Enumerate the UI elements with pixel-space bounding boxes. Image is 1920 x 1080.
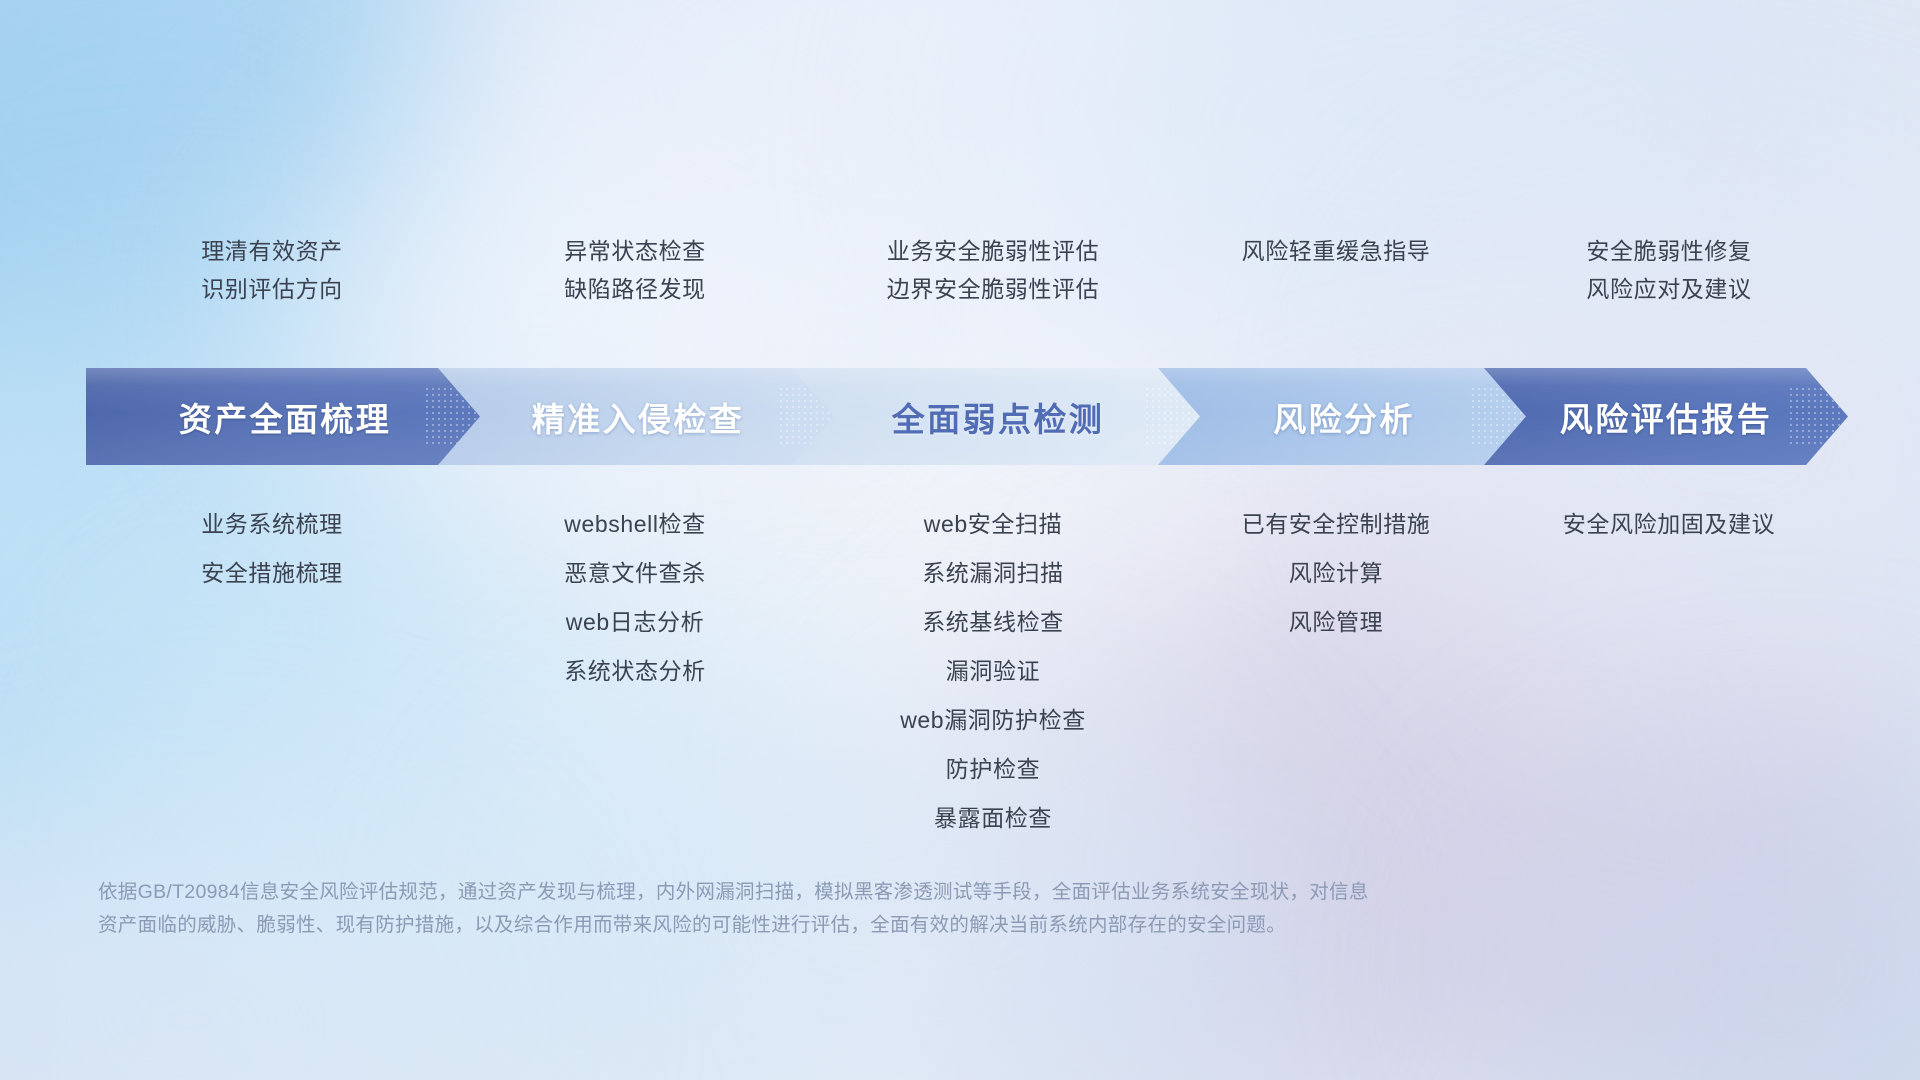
detail-column-4: 已有安全控制措施 风险计算 风险管理 <box>1174 500 1498 647</box>
top-caption-column-1: 理清有效资产 识别评估方向 <box>86 232 458 308</box>
top-caption-line: 异常状态检查 <box>458 232 812 270</box>
top-caption-column-3: 业务安全脆弱性评估 边界安全脆弱性评估 <box>812 232 1174 308</box>
top-caption-column-2: 异常状态检查 缺陷路径发现 <box>458 232 812 308</box>
list-item: 防护检查 <box>812 745 1174 794</box>
footer-line-1: 依据GB/T20984信息安全风险评估规范，通过资产发现与梳理，内外网漏洞扫描，… <box>98 876 1658 909</box>
top-caption-line: 边界安全脆弱性评估 <box>812 270 1174 308</box>
detail-column-3: web安全扫描 系统漏洞扫描 系统基线检查 漏洞验证 web漏洞防护检查 防护检… <box>812 500 1174 843</box>
chevron-step-2-label: 精准入侵检查 <box>532 393 744 441</box>
process-chevron-band: 资产全面梳理 精准入侵检查 全面弱点检测 风险分析 风险评估报告 <box>86 368 1848 465</box>
list-item: 暴露面检查 <box>812 794 1174 843</box>
chevron-step-3-label: 全面弱点检测 <box>892 393 1104 441</box>
chevron-step-4[interactable]: 风险分析 <box>1158 368 1530 465</box>
chevron-dot-texture <box>1788 386 1842 446</box>
top-caption-column-4: 风险轻重缓急指导 <box>1174 232 1498 308</box>
top-caption-line: 识别评估方向 <box>86 270 458 308</box>
detail-column-1: 业务系统梳理 安全措施梳理 <box>86 500 458 598</box>
list-item: 业务系统梳理 <box>86 500 458 549</box>
chevron-step-3[interactable]: 全面弱点检测 <box>792 368 1204 465</box>
top-caption-line: 缺陷路径发现 <box>458 270 812 308</box>
top-caption-line: 理清有效资产 <box>86 232 458 270</box>
list-item: 漏洞验证 <box>812 647 1174 696</box>
list-item: 风险计算 <box>1174 549 1498 598</box>
list-item: 安全措施梳理 <box>86 549 458 598</box>
top-caption-column-5: 安全脆弱性修复 风险应对及建议 <box>1498 232 1840 308</box>
list-item: 安全风险加固及建议 <box>1498 500 1840 549</box>
list-item: web日志分析 <box>458 598 812 647</box>
top-caption-line: 安全脆弱性修复 <box>1498 232 1840 270</box>
chevron-step-1[interactable]: 资产全面梳理 <box>86 368 484 465</box>
list-item: 系统状态分析 <box>458 647 812 696</box>
list-item: 恶意文件查杀 <box>458 549 812 598</box>
diagram-content: 理清有效资产 识别评估方向 异常状态检查 缺陷路径发现 业务安全脆弱性评估 边界… <box>0 0 1920 1080</box>
list-item: 系统基线检查 <box>812 598 1174 647</box>
bottom-detail-row: 业务系统梳理 安全措施梳理 webshell检查 恶意文件查杀 web日志分析 … <box>86 500 1840 843</box>
footer-line-2: 资产面临的威胁、脆弱性、现有防护措施，以及综合作用而带来风险的可能性进行评估，全… <box>98 909 1658 942</box>
chevron-step-1-label: 资产全面梳理 <box>179 393 391 441</box>
slide-canvas: 理清有效资产 识别评估方向 异常状态检查 缺陷路径发现 业务安全脆弱性评估 边界… <box>0 0 1920 1080</box>
top-caption-line: 业务安全脆弱性评估 <box>812 232 1174 270</box>
footer-description: 依据GB/T20984信息安全风险评估规范，通过资产发现与梳理，内外网漏洞扫描，… <box>98 876 1658 942</box>
list-item: webshell检查 <box>458 500 812 549</box>
detail-column-5: 安全风险加固及建议 <box>1498 500 1840 549</box>
top-caption-line: 风险应对及建议 <box>1498 270 1840 308</box>
chevron-step-5-label: 风险评估报告 <box>1560 393 1772 441</box>
list-item: web漏洞防护检查 <box>812 696 1174 745</box>
top-caption-row: 理清有效资产 识别评估方向 异常状态检查 缺陷路径发现 业务安全脆弱性评估 边界… <box>86 232 1840 308</box>
top-caption-line: 风险轻重缓急指导 <box>1174 232 1498 270</box>
chevron-step-2[interactable]: 精准入侵检查 <box>438 368 838 465</box>
chevron-step-5[interactable]: 风险评估报告 <box>1484 368 1848 465</box>
list-item: 风险管理 <box>1174 598 1498 647</box>
detail-column-2: webshell检查 恶意文件查杀 web日志分析 系统状态分析 <box>458 500 812 696</box>
list-item: 已有安全控制措施 <box>1174 500 1498 549</box>
chevron-step-4-label: 风险分析 <box>1273 393 1415 441</box>
list-item: 系统漏洞扫描 <box>812 549 1174 598</box>
list-item: web安全扫描 <box>812 500 1174 549</box>
